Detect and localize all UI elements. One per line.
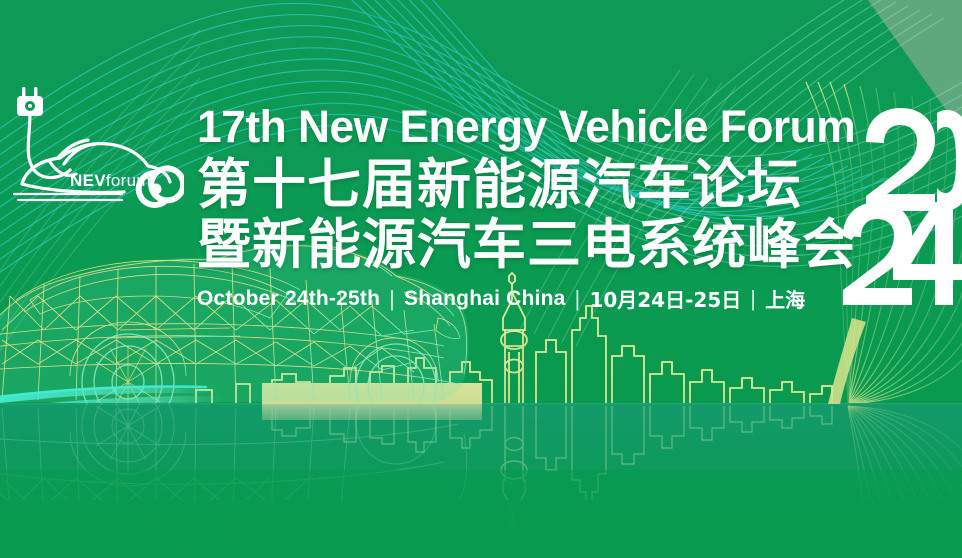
year-digit-0: [937, 110, 962, 210]
nevforum-logo[interactable]: NEVforum: [4, 78, 184, 218]
location-cn: 上海: [765, 284, 805, 313]
separator-1: |: [389, 286, 395, 312]
separator-2: |: [575, 286, 581, 312]
logo-wordmark-prefix: NEV: [70, 171, 106, 190]
charging-plug-icon: [17, 87, 43, 116]
event-info-line: October 24th-25th | Shanghai China | 10月…: [197, 284, 847, 313]
separator-3: |: [750, 286, 756, 312]
headline-block: 17th New Energy Vehicle Forum 第十七届新能源汽车论…: [197, 104, 847, 313]
event-poster: NEVforum 17th New Energy Vehicle Forum 第…: [0, 0, 962, 558]
date-en: October 24th-25th: [197, 287, 380, 311]
english-title: 17th New Energy Vehicle Forum: [197, 104, 837, 150]
chinese-title-line1: 第十七届新能源汽车论坛: [197, 156, 847, 214]
location-en: Shanghai China: [404, 287, 565, 311]
year-2024-mark: [843, 104, 962, 309]
date-cn: 10月24日-25日: [589, 284, 741, 313]
year-digit-2a: [866, 108, 935, 211]
platform-bar-reflection: [262, 404, 482, 420]
chinese-title-line2: 暨新能源汽车三电系统峰会: [197, 216, 847, 274]
nevforum-logo-mark: [4, 78, 184, 218]
logo-wordmark: NEVforum: [70, 171, 151, 191]
logo-wordmark-suffix: forum: [106, 171, 151, 190]
year-2024-glyphs: [843, 104, 962, 309]
speed-lines-icon: [14, 194, 122, 200]
